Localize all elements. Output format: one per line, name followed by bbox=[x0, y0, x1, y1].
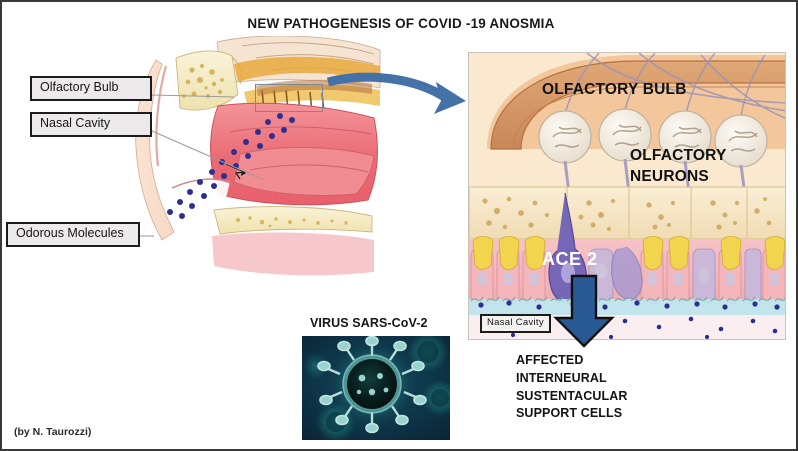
page-title: NEW PATHOGENESIS OF COVID -19 ANOSMIA bbox=[2, 16, 798, 31]
sars-cov-2-image bbox=[302, 336, 450, 440]
callout-olfactory-bulb: Olfactory Bulb bbox=[30, 76, 152, 101]
callout-nasal-cavity-panel: Nasal Cavity bbox=[480, 314, 551, 333]
callout-nasal-cavity: Nasal Cavity bbox=[30, 112, 152, 137]
affected-line-1: AFFECTED bbox=[516, 352, 627, 370]
label-olfactory-neurons-line1: OLFACTORY bbox=[630, 146, 727, 167]
callout-odorous-molecules: Odorous Molecules bbox=[6, 222, 140, 247]
label-ace2: ACE 2 bbox=[542, 249, 598, 270]
affected-cells-text: AFFECTED INTERNEURAL SUSTENTACULAR SUPPO… bbox=[516, 352, 627, 423]
label-olfactory-neurons-line2: NEURONS bbox=[630, 167, 727, 188]
affected-line-3: SUSTENTACULAR bbox=[516, 388, 627, 406]
magnifier-region-box bbox=[255, 84, 323, 112]
slide-canvas: NEW PATHOGENESIS OF COVID -19 ANOSMIA bbox=[0, 0, 798, 451]
affected-line-4: SUPPORT CELLS bbox=[516, 405, 627, 423]
label-olfactory-bulb: OLFACTORY BULB bbox=[542, 81, 687, 99]
virus-caption: VIRUS SARS-CoV-2 bbox=[310, 316, 428, 330]
infection-pathway-down-arrow bbox=[552, 274, 616, 348]
affected-line-2: INTERNEURAL bbox=[516, 370, 627, 388]
label-olfactory-neurons: OLFACTORY NEURONS bbox=[630, 146, 727, 188]
blue-curved-arrow bbox=[324, 68, 474, 130]
author-credit: (by N. Taurozzi) bbox=[14, 426, 91, 438]
